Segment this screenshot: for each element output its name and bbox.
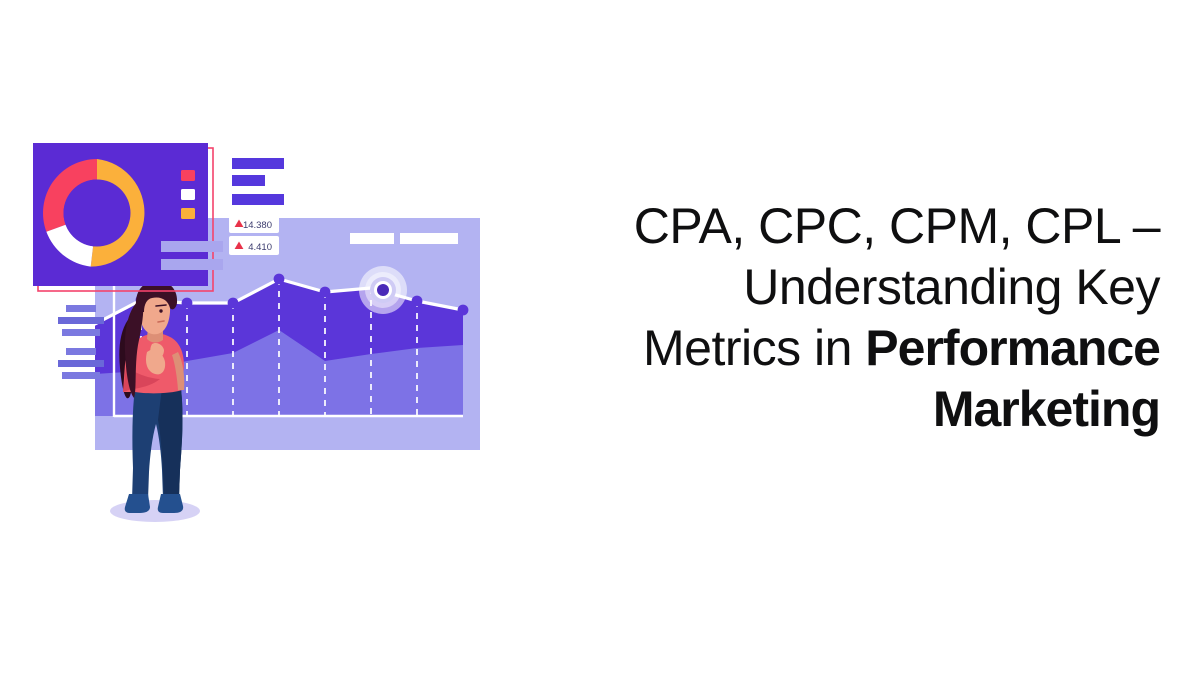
headline-line-2: Understanding Key — [520, 257, 1160, 318]
mouth — [158, 321, 164, 322]
eyebrow — [156, 305, 166, 306]
legend-swatch-white[interactable] — [181, 189, 195, 200]
data-point[interactable] — [412, 296, 423, 307]
top-bar-1 — [350, 233, 394, 244]
donut-legend — [181, 170, 195, 219]
highlight-core-dot — [377, 284, 389, 296]
slide-canvas: 14.380 4.410 CPA, CPC, CPM, CPL – Unders… — [0, 0, 1200, 675]
inner-bar-1 — [161, 241, 223, 252]
side-bar-5 — [58, 360, 104, 367]
metric-badge-1-value: 14.380 — [243, 220, 272, 231]
headline-line-3: Metrics in Performance — [520, 318, 1160, 379]
shoe-right — [158, 494, 183, 513]
inner-bar-2 — [161, 259, 223, 270]
data-point[interactable] — [320, 287, 331, 298]
headline-line-3-strong: Performance — [865, 320, 1160, 376]
data-point[interactable] — [228, 298, 239, 309]
donut-hole — [64, 180, 131, 247]
side-bar-4 — [66, 348, 96, 355]
side-bar-6 — [62, 372, 100, 379]
metric-badge-1[interactable]: 14.380 — [229, 214, 279, 233]
headline-line-1: CPA, CPC, CPM, CPL – — [520, 196, 1160, 257]
data-point[interactable] — [182, 298, 193, 309]
data-point[interactable] — [458, 305, 469, 316]
performance-marketing-illustration: 14.380 4.410 — [0, 0, 540, 675]
outer-bar-1 — [232, 158, 284, 169]
side-bar-1 — [66, 305, 96, 312]
figure-shadow — [110, 500, 200, 522]
legend-swatch-orange[interactable] — [181, 208, 195, 219]
side-bar-2 — [58, 317, 104, 324]
metric-badge-2[interactable]: 4.410 — [229, 236, 279, 255]
eye — [159, 309, 162, 312]
legend-swatch-red[interactable] — [181, 170, 195, 181]
highlighted-data-point[interactable] — [359, 266, 407, 314]
shoe-left — [125, 494, 150, 513]
headline-line-4: Marketing — [520, 379, 1160, 440]
data-point[interactable] — [274, 274, 285, 285]
page-title: CPA, CPC, CPM, CPL – Understanding Key M… — [520, 196, 1160, 440]
metric-badge-2-value: 4.410 — [248, 242, 272, 253]
side-bar-3 — [62, 329, 100, 336]
headline-line-3-prefix: Metrics in — [643, 320, 865, 376]
top-bar-2 — [400, 233, 458, 244]
outer-bar-2 — [232, 175, 265, 186]
jeans-shadow — [158, 388, 183, 498]
outer-bar-3 — [232, 194, 284, 205]
